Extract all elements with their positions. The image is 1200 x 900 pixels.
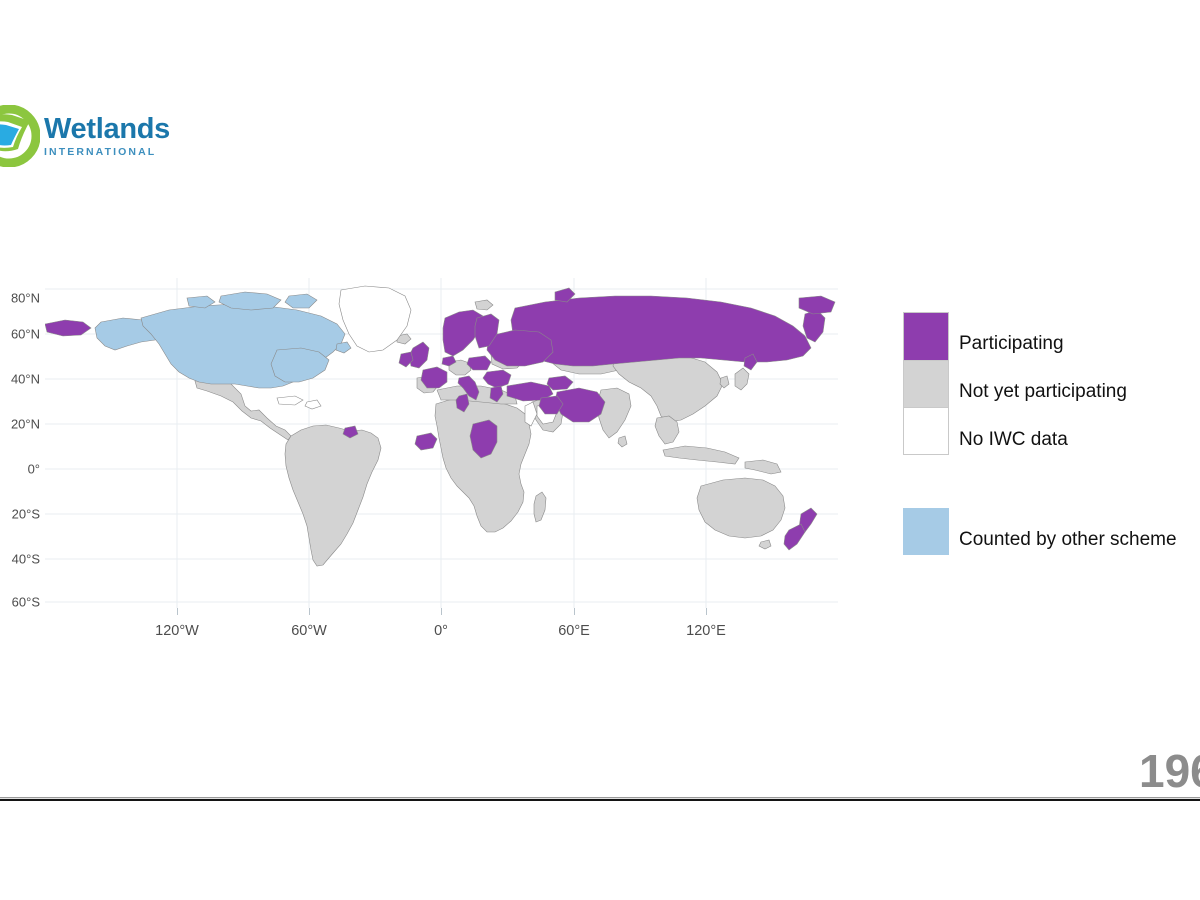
world-map-figure: .land { stroke:#8a8a8a; stroke-width:0.6…	[0, 258, 880, 648]
x-tick-mark	[309, 608, 310, 615]
y-tick-label: 40°S	[12, 552, 40, 567]
y-tick-label: 60°N	[11, 327, 40, 342]
wetlands-international-logo: Wetlands INTERNATIONAL	[0, 103, 188, 173]
y-tick-label: 0°	[28, 462, 40, 477]
legend-swatch-counted-other-scheme[interactable]	[903, 508, 949, 555]
y-tick-label: 80°N	[11, 291, 40, 306]
world-map-svg: .land { stroke:#8a8a8a; stroke-width:0.6…	[45, 278, 838, 608]
x-tick-mark	[177, 608, 178, 615]
slide-canvas: Wetlands INTERNATIONAL .land { stroke:#8…	[0, 0, 1200, 900]
y-tick-label: 20°N	[11, 417, 40, 432]
legend-swatch-no-data[interactable]	[904, 407, 948, 454]
legend-label-participating: Participating	[959, 334, 1064, 353]
x-tick-mark	[574, 608, 575, 615]
legend-swatch-participating[interactable]	[904, 313, 948, 360]
y-tick-label: 40°N	[11, 372, 40, 387]
x-tick-label: 60°E	[558, 623, 590, 639]
legend-swatch-stack	[903, 312, 949, 455]
x-tick-label: 120°W	[155, 623, 199, 639]
y-tick-label: 60°S	[12, 595, 40, 610]
bottom-divider	[0, 797, 1200, 801]
x-tick-label: 120°E	[686, 623, 726, 639]
year-caption: 196	[1139, 748, 1200, 794]
legend-swatch-not-participating[interactable]	[904, 360, 948, 407]
logo-name: Wetlands	[44, 115, 170, 144]
legend-label-not-participating: Not yet participating	[959, 382, 1127, 401]
legend-label-no-data: No IWC data	[959, 430, 1068, 449]
x-tick-label: 0°	[434, 623, 448, 639]
x-tick-mark	[441, 608, 442, 615]
logo-wordmark: Wetlands INTERNATIONAL	[44, 115, 170, 158]
map-plot-area: .land { stroke:#8a8a8a; stroke-width:0.6…	[45, 278, 838, 608]
wetlands-globe-leaf-icon	[0, 105, 40, 167]
x-tick-mark	[706, 608, 707, 615]
logo-subtitle: INTERNATIONAL	[44, 147, 170, 158]
y-tick-label: 20°S	[12, 507, 40, 522]
x-tick-label: 60°W	[291, 623, 327, 639]
legend-label-counted-other-scheme: Counted by other scheme	[959, 530, 1177, 549]
